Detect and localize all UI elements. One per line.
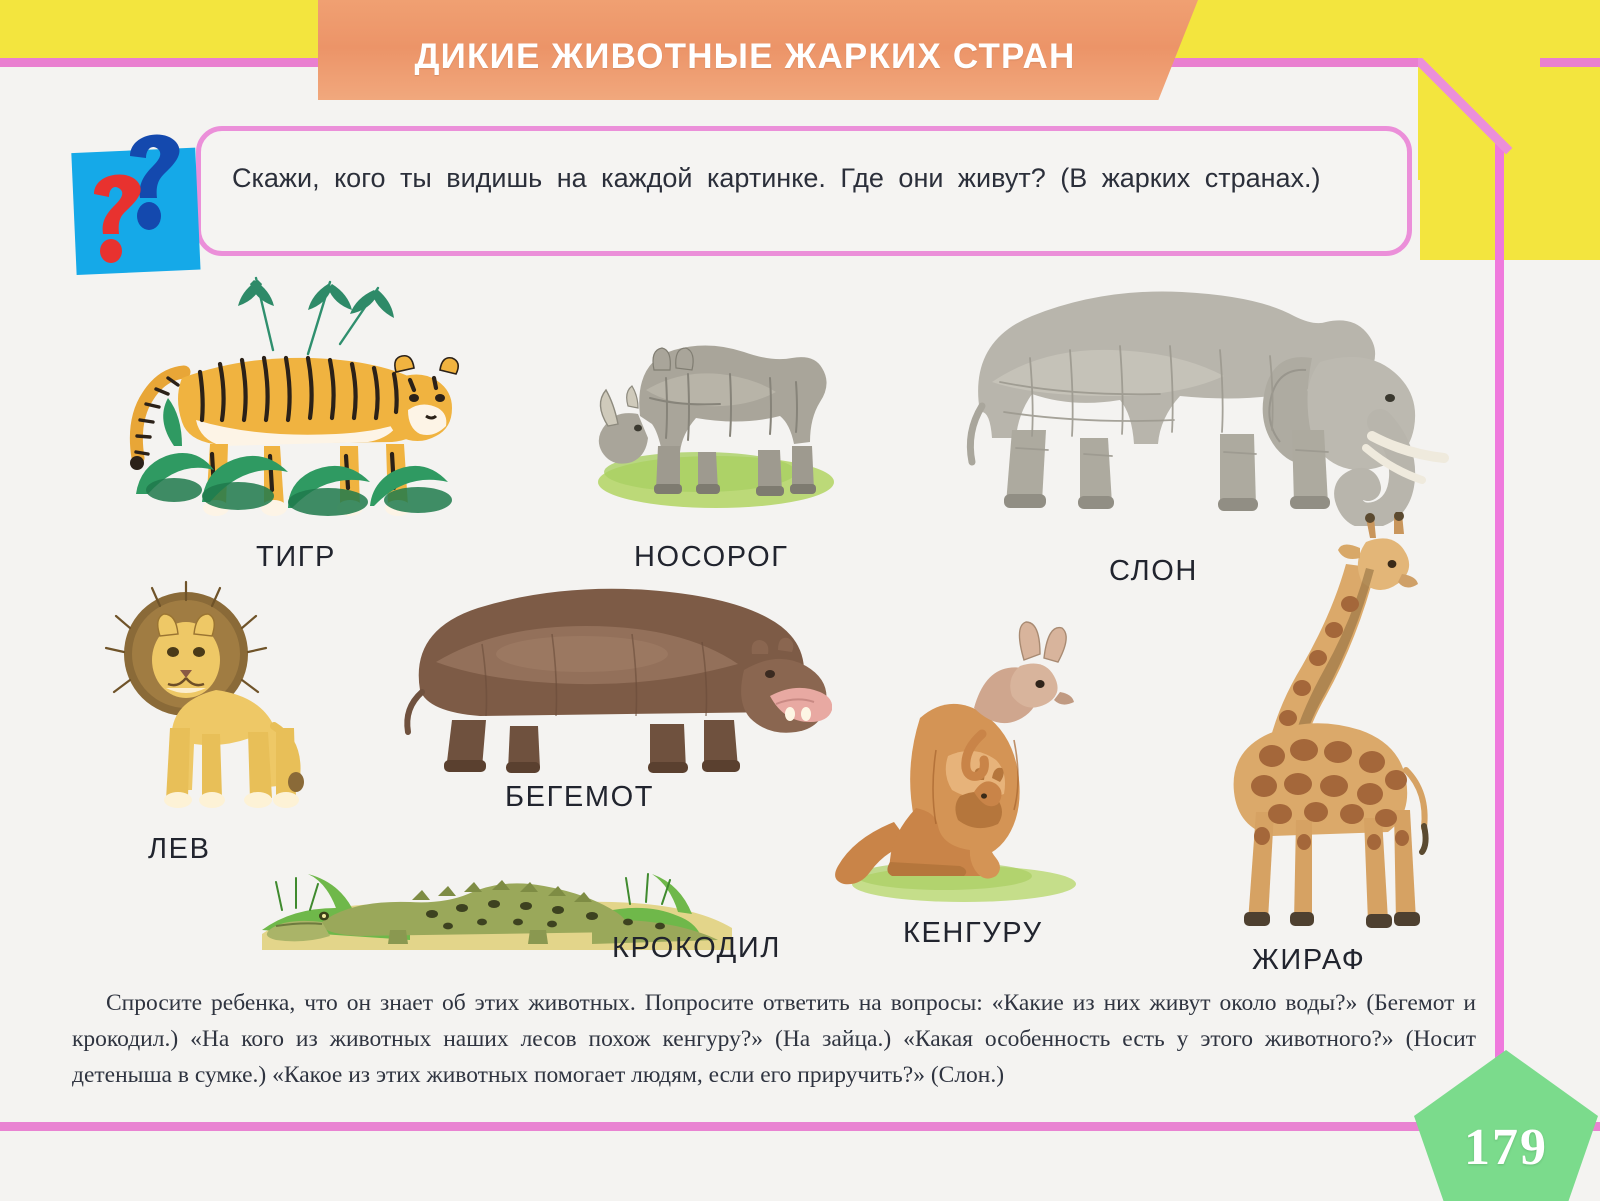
animal-label-crocodile: КРОКОДИЛ [612,932,781,965]
page-number-badge: 179 [1408,1044,1600,1201]
animal-image-giraffe [1180,512,1440,940]
question-marks-sticker-icon [68,118,218,283]
animal-image-lion [78,578,308,822]
frame-line-right [1495,58,1504,1131]
animal-label-kangaroo: КЕНГУРУ [903,917,1043,950]
note-body: Спросите ребенка, что он знает об этих ж… [72,990,1476,1088]
corner-yellow-block [1418,58,1600,180]
book-page: ДИКИЕ ЖИВОТНЫЕ ЖАРКИХ СТРАН Скажи, кого … [0,0,1600,1201]
animal-image-hippopotamus [392,578,832,778]
animal-image-elephant [920,272,1450,526]
animal-label-elephant: СЛОН [1109,555,1198,588]
parent-note-text: Спросите ребенка, что он знает об этих ж… [72,986,1476,1094]
animal-label-hippopotamus: БЕГЕМОТ [505,781,654,814]
page-number: 179 [1408,1118,1600,1177]
animal-label-tiger: ТИГР [256,541,336,574]
page-title: ДИКИЕ ЖИВОТНЫЕ ЖАРКИХ СТРАН [415,23,1102,77]
instruction-text: Скажи, кого ты видишь на каждой картинке… [232,158,1382,200]
animal-label-lion: ЛЕВ [148,833,211,866]
frame-line-bottom [0,1122,1600,1131]
animal-label-rhinoceros: НОСОРОГ [634,541,789,574]
animal-image-kangaroo [824,600,1086,904]
animal-image-rhinoceros [580,286,842,518]
page-title-banner: ДИКИЕ ЖИВОТНЫЕ ЖАРКИХ СТРАН [318,0,1198,100]
animal-image-tiger [78,258,478,530]
animal-label-giraffe: ЖИРАФ [1252,944,1365,977]
